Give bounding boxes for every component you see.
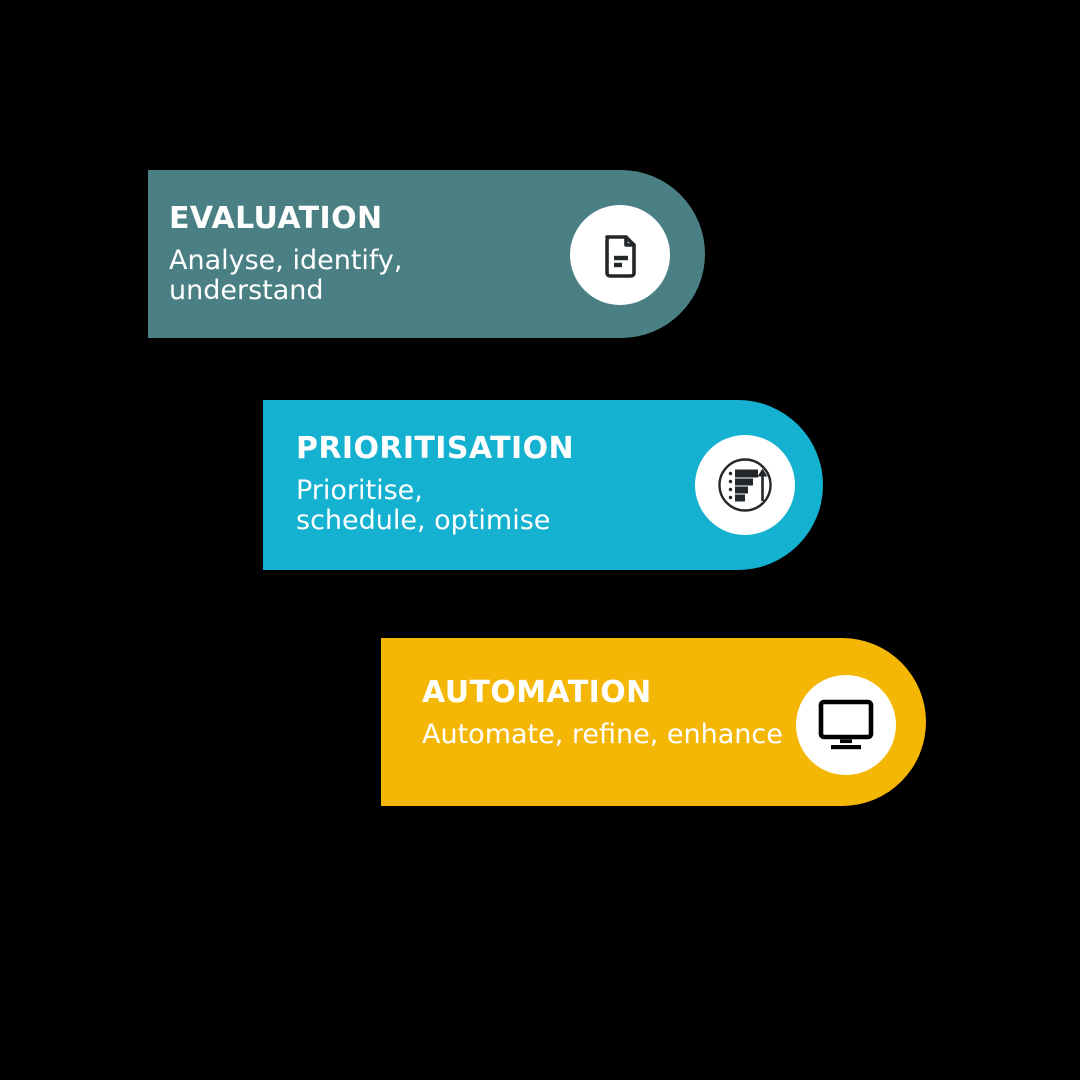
stage-bar-automation[interactable]: AUTOMATION Automate, refine, enhance	[381, 638, 926, 806]
icon-circle-automation	[796, 675, 896, 775]
stage-text-prioritisation: PRIORITISATION Prioritise, schedule, opt…	[296, 432, 574, 536]
monitor-icon	[815, 696, 877, 754]
document-icon	[594, 229, 646, 281]
icon-circle-evaluation	[570, 205, 670, 305]
stage-bar-prioritisation[interactable]: PRIORITISATION Prioritise, schedule, opt…	[263, 400, 823, 570]
stage-text-automation: AUTOMATION Automate, refine, enhance	[422, 676, 783, 750]
stage-subtitle-automation: Automate, refine, enhance	[422, 720, 783, 750]
diagram-canvas: EVALUATION Analyse, identify, understand…	[0, 0, 1080, 1080]
stage-title-automation: AUTOMATION	[422, 676, 783, 709]
stage-title-evaluation: EVALUATION	[169, 202, 429, 235]
priority-ranking-icon	[716, 456, 774, 514]
stage-title-prioritisation: PRIORITISATION	[296, 432, 574, 465]
stage-subtitle-prioritisation: Prioritise, schedule, optimise	[296, 476, 556, 536]
stage-bar-evaluation[interactable]: EVALUATION Analyse, identify, understand	[148, 170, 705, 338]
icon-circle-prioritisation	[695, 435, 795, 535]
stage-subtitle-evaluation: Analyse, identify, understand	[169, 246, 429, 306]
stage-text-evaluation: EVALUATION Analyse, identify, understand	[169, 202, 429, 306]
